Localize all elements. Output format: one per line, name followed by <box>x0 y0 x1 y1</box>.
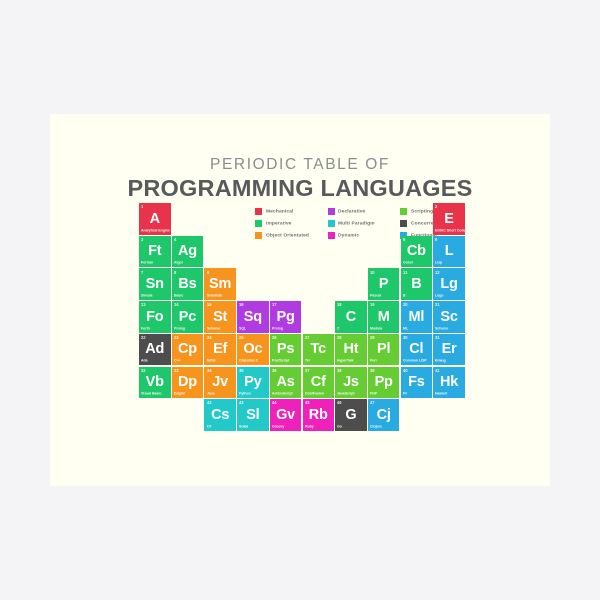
element-number: 15 <box>207 302 212 307</box>
element-number: 22 <box>141 335 146 340</box>
element-symbol: Dp <box>172 374 204 391</box>
element-name: Java <box>207 392 215 396</box>
element-name: ActionScript <box>272 392 293 396</box>
element-number: 44 <box>272 400 277 405</box>
element-number: 38 <box>337 368 342 373</box>
element-cell-m[interactable]: 19MModula <box>368 301 400 333</box>
element-number: 25 <box>239 335 244 340</box>
element-name: Scheme <box>207 327 220 331</box>
element-symbol: Cs <box>204 407 236 424</box>
element-cell-ps[interactable]: 26PsPostScript <box>270 334 302 366</box>
element-number: 2 <box>435 204 437 209</box>
element-cell-cj[interactable]: 47CjClojure <box>368 399 400 431</box>
element-name: Visual Basic <box>141 392 161 396</box>
element-symbol: Sn <box>139 276 171 293</box>
element-number: 39 <box>370 368 375 373</box>
element-symbol: P <box>368 276 400 293</box>
element-name: SQL <box>239 327 246 331</box>
element-symbol: Gv <box>270 407 302 424</box>
element-symbol: Lg <box>433 276 465 293</box>
element-number: 11 <box>403 270 407 275</box>
element-number: 12 <box>435 270 440 275</box>
element-name: Basic <box>174 294 183 298</box>
element-cell-gv[interactable]: 44GvGroovy <box>270 399 302 431</box>
element-cell-hk[interactable]: 41HkHaskell <box>433 367 465 399</box>
element-name: Delphi <box>174 392 185 396</box>
element-symbol: Ps <box>270 341 302 358</box>
element-symbol: Oc <box>237 341 269 358</box>
element-cell-ad[interactable]: 22AdAda <box>139 334 171 366</box>
element-symbol: Sm <box>204 276 236 293</box>
element-number: 34 <box>207 368 212 373</box>
element-cell-a[interactable]: 1AAnalytical Engine <box>139 203 171 235</box>
element-number: 13 <box>141 302 146 307</box>
element-name: C++ <box>174 360 181 364</box>
element-symbol: Rb <box>303 407 335 424</box>
element-number: 40 <box>403 368 408 373</box>
element-number: 31 <box>435 335 440 340</box>
element-cell-pc[interactable]: 14PcProlog <box>172 301 204 333</box>
element-symbol: Vb <box>139 374 171 391</box>
element-cell-ef[interactable]: 24EfEiffel <box>204 334 236 366</box>
element-number: 28 <box>337 335 342 340</box>
element-symbol: Pc <box>172 309 204 326</box>
element-number: 26 <box>272 335 277 340</box>
element-cell-cb[interactable]: 5CbCobol <box>401 236 433 268</box>
element-number: 37 <box>305 368 310 373</box>
element-name: ML <box>403 327 408 331</box>
element-symbol: Fo <box>139 309 171 326</box>
element-cell-er[interactable]: 31ErErlang <box>433 334 465 366</box>
element-cell-g[interactable]: 46GGo <box>335 399 367 431</box>
element-cell-rb[interactable]: 45RbRuby <box>303 399 335 431</box>
element-cell-ag[interactable]: 4AgAlgol <box>172 236 204 268</box>
element-name: Perl <box>370 360 377 364</box>
element-name: Smalltalk <box>207 294 222 298</box>
element-name: C <box>337 327 340 331</box>
element-number: 16 <box>239 302 244 307</box>
element-cell-cs[interactable]: 42CsC# <box>204 399 236 431</box>
element-name: Python <box>239 392 251 396</box>
element-name: Common LISP <box>403 360 427 364</box>
element-symbol: C <box>335 309 367 326</box>
element-symbol: A <box>139 211 171 228</box>
element-symbol: Py <box>237 374 269 391</box>
element-number: 30 <box>403 335 408 340</box>
element-name: ENIAC Short Code <box>435 229 464 233</box>
element-symbol: Er <box>433 341 465 358</box>
element-name: Haskell <box>435 392 447 396</box>
element-cell-js[interactable]: 38JsJavaScript <box>335 367 367 399</box>
element-number: 36 <box>272 368 277 373</box>
element-name: Scala <box>239 425 248 429</box>
element-name: HyperTalk <box>337 360 354 364</box>
element-cell-as[interactable]: 36AsActionScript <box>270 367 302 399</box>
element-symbol: E <box>433 211 465 228</box>
element-number: 7 <box>141 270 143 275</box>
element-symbol: G <box>335 407 367 424</box>
element-number: 4 <box>174 237 176 242</box>
element-cell-ft[interactable]: 3FtFortran <box>139 236 171 268</box>
element-cell-ml[interactable]: 20MlML <box>401 301 433 333</box>
element-name: C# <box>207 425 211 429</box>
element-name: Pascal <box>370 294 381 298</box>
element-cell-jv[interactable]: 34JvJava <box>204 367 236 399</box>
element-symbol: Ft <box>139 243 171 260</box>
element-cell-p[interactable]: 10PPascal <box>368 268 400 300</box>
element-symbol: Ef <box>204 341 236 358</box>
element-name: JavaScript <box>337 392 355 396</box>
element-symbol: As <box>270 374 302 391</box>
element-cell-e[interactable]: 2EENIAC Short Code <box>433 203 465 235</box>
element-symbol: Sl <box>237 407 269 424</box>
element-cell-l[interactable]: 6LLisp <box>433 236 465 268</box>
element-number: 47 <box>370 400 375 405</box>
poster-title: PERIODIC TABLE OF PROGRAMMING LANGUAGES <box>50 156 550 202</box>
element-symbol: Ht <box>335 341 367 358</box>
element-number: 6 <box>435 237 437 242</box>
element-name: Tcl <box>305 360 310 364</box>
element-name: Logo <box>435 294 443 298</box>
element-cell-cp[interactable]: 23CpC++ <box>172 334 204 366</box>
element-cell-sn[interactable]: 7SnSimula <box>139 268 171 300</box>
element-number: 3 <box>141 237 143 242</box>
element-number: 41 <box>435 368 440 373</box>
element-cell-c[interactable]: 18CC <box>335 301 367 333</box>
element-cell-pl[interactable]: 29PlPerl <box>368 334 400 366</box>
element-number: 43 <box>239 400 244 405</box>
element-number: 24 <box>207 335 212 340</box>
element-number: 21 <box>435 302 440 307</box>
element-cell-cl[interactable]: 30ClCommon LISP <box>401 334 433 366</box>
element-name: Prolog <box>174 327 185 331</box>
element-symbol: Ag <box>172 243 204 260</box>
element-symbol: B <box>401 276 433 293</box>
periodic-table-grid: 1AAnalytical Engine2EENIAC Short Code3Ft… <box>139 203 472 432</box>
element-symbol: Cb <box>401 243 433 260</box>
element-name: Forth <box>141 327 150 331</box>
element-symbol: Cp <box>172 341 204 358</box>
element-symbol: Pp <box>368 374 400 391</box>
element-cell-sc[interactable]: 21ScScheme <box>433 301 465 333</box>
element-cell-lg[interactable]: 12LgLogo <box>433 268 465 300</box>
element-cell-b[interactable]: 11BB <box>401 268 433 300</box>
element-number: 1 <box>141 204 143 209</box>
element-number: 23 <box>174 335 179 340</box>
element-number: 18 <box>337 302 342 307</box>
element-symbol: Cl <box>401 341 433 358</box>
element-number: 10 <box>370 270 375 275</box>
element-symbol: Tc <box>303 341 335 358</box>
element-symbol: Cf <box>303 374 335 391</box>
element-number: 19 <box>370 302 375 307</box>
element-name: Go <box>337 425 342 429</box>
element-name: Lisp <box>435 262 442 266</box>
element-cell-st[interactable]: 15StScheme <box>204 301 236 333</box>
element-name: Fortran <box>141 262 153 266</box>
element-number: 45 <box>305 400 310 405</box>
element-number: 20 <box>403 302 408 307</box>
element-symbol: Ad <box>139 341 171 358</box>
element-number: 42 <box>207 400 212 405</box>
element-name: Groovy <box>272 425 284 429</box>
element-symbol: M <box>368 309 400 326</box>
element-symbol: Sc <box>433 309 465 326</box>
element-name: F# <box>403 392 407 396</box>
element-name: Analytical Engine <box>141 229 170 233</box>
element-symbol: Jv <box>204 374 236 391</box>
element-number: 14 <box>174 302 179 307</box>
element-cell-pg[interactable]: 17PgProlog <box>270 301 302 333</box>
element-symbol: Pg <box>270 309 302 326</box>
element-symbol: Ml <box>401 309 433 326</box>
element-cell-oc[interactable]: 25OcObjective C <box>237 334 269 366</box>
element-cell-fs[interactable]: 40FsF# <box>401 367 433 399</box>
element-cell-fo[interactable]: 13FoForth <box>139 301 171 333</box>
element-name: Eiffel <box>207 360 215 364</box>
element-name: Ruby <box>305 425 314 429</box>
element-number: 9 <box>207 270 209 275</box>
element-number: 29 <box>370 335 375 340</box>
element-cell-dp[interactable]: 33DpDelphi <box>172 367 204 399</box>
element-name: Modula <box>370 327 382 331</box>
element-cell-ht[interactable]: 28HtHyperTalk <box>335 334 367 366</box>
element-name: Erlang <box>435 360 446 364</box>
element-number: 27 <box>305 335 310 340</box>
element-name: Scheme <box>435 327 448 331</box>
element-number: 5 <box>403 237 405 242</box>
element-symbol: Bs <box>172 276 204 293</box>
element-symbol: Fs <box>401 374 433 391</box>
title-line-1: PERIODIC TABLE OF <box>50 156 550 174</box>
element-number: 35 <box>239 368 244 373</box>
element-cell-py[interactable]: 35PyPython <box>237 367 269 399</box>
art-print-panel: PERIODIC TABLE OF PROGRAMMING LANGUAGES … <box>50 114 550 486</box>
element-number: 17 <box>272 302 277 307</box>
element-cell-sq[interactable]: 16SqSQL <box>237 301 269 333</box>
element-symbol: Sq <box>237 309 269 326</box>
element-cell-vb[interactable]: 32VbVisual Basic <box>139 367 171 399</box>
element-symbol: Hk <box>433 374 465 391</box>
element-cell-cf[interactable]: 37CfColdFusion <box>303 367 335 399</box>
element-name: ColdFusion <box>305 392 324 396</box>
element-name: PostScript <box>272 360 289 364</box>
element-symbol: L <box>433 243 465 260</box>
element-name: Simula <box>141 294 152 298</box>
element-name: Cobol <box>403 262 413 266</box>
element-symbol: Cj <box>368 407 400 424</box>
element-symbol: Pl <box>368 341 400 358</box>
element-cell-sm[interactable]: 9SmSmalltalk <box>204 268 236 300</box>
element-name: Objective C <box>239 360 258 364</box>
element-symbol: Js <box>335 374 367 391</box>
element-cell-bs[interactable]: 8BsBasic <box>172 268 204 300</box>
title-line-2: PROGRAMMING LANGUAGES <box>50 175 550 202</box>
element-name: PHP <box>370 392 377 396</box>
element-name: Clojure <box>370 425 382 429</box>
element-symbol: St <box>204 309 236 326</box>
element-name: B <box>403 294 406 298</box>
element-number: 33 <box>174 368 179 373</box>
element-number: 32 <box>141 368 146 373</box>
element-name: Prolog <box>272 327 283 331</box>
element-name: Ada <box>141 360 148 364</box>
element-cell-pp[interactable]: 39PpPHP <box>368 367 400 399</box>
element-cell-tc[interactable]: 27TcTcl <box>303 334 335 366</box>
element-number: 8 <box>174 270 176 275</box>
element-cell-sl[interactable]: 43SlScala <box>237 399 269 431</box>
element-name: Algol <box>174 262 183 266</box>
element-number: 46 <box>337 400 342 405</box>
